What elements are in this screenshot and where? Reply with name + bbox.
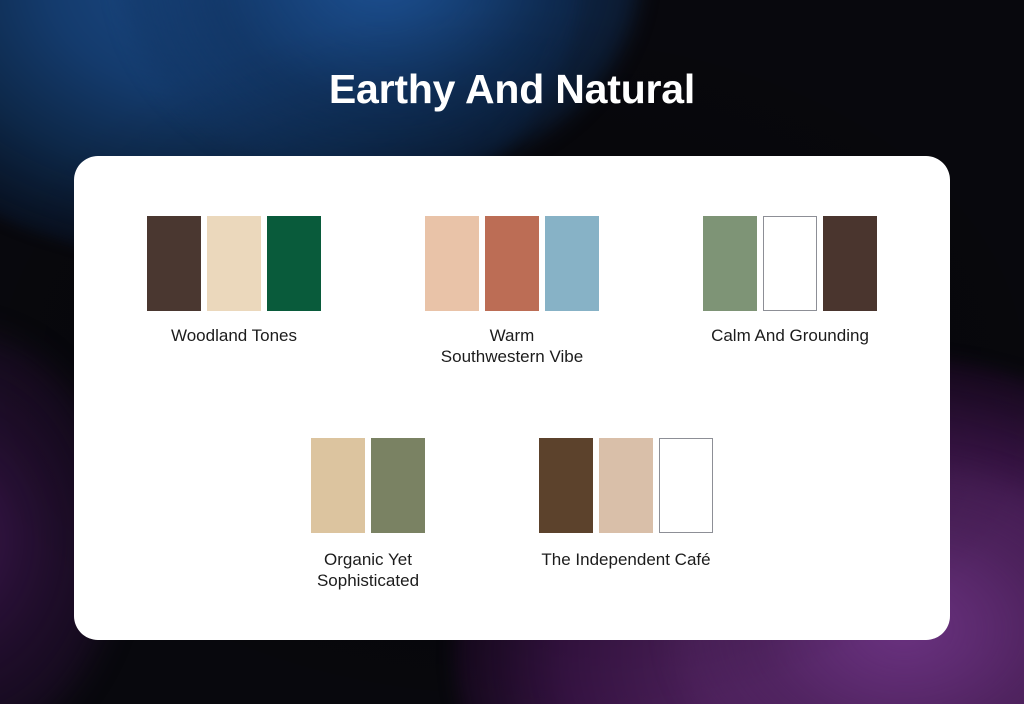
swatch-strip <box>147 216 321 311</box>
palette-group: Woodland Tones <box>147 216 321 367</box>
color-swatch[interactable] <box>703 216 757 311</box>
swatch-strip <box>539 438 713 533</box>
palette-label: The Independent Café <box>541 549 710 570</box>
color-swatch[interactable] <box>485 216 539 311</box>
palette-row-bottom: Organic Yet SophisticatedThe Independent… <box>74 438 950 591</box>
color-swatch[interactable] <box>267 216 321 311</box>
palette-label: Organic Yet Sophisticated <box>317 549 419 591</box>
color-swatch[interactable] <box>207 216 261 311</box>
swatch-strip <box>311 438 425 533</box>
color-swatch[interactable] <box>425 216 479 311</box>
color-swatch[interactable] <box>539 438 593 533</box>
swatch-strip <box>703 216 877 311</box>
palette-group: Calm And Grounding <box>703 216 877 367</box>
palette-group: Organic Yet Sophisticated <box>311 438 425 591</box>
color-swatch[interactable] <box>371 438 425 533</box>
color-swatch[interactable] <box>545 216 599 311</box>
page-title: Earthy And Natural <box>0 66 1024 113</box>
color-swatch[interactable] <box>823 216 877 311</box>
palette-card: Woodland TonesWarm Southwestern VibeCalm… <box>74 156 950 640</box>
palette-label: Calm And Grounding <box>711 325 869 346</box>
palette-group: The Independent Café <box>539 438 713 591</box>
color-swatch[interactable] <box>763 216 817 311</box>
palette-label: Warm Southwestern Vibe <box>441 325 583 367</box>
palette-row-top: Woodland TonesWarm Southwestern VibeCalm… <box>74 216 950 367</box>
color-swatch[interactable] <box>147 216 201 311</box>
color-swatch[interactable] <box>311 438 365 533</box>
color-swatch[interactable] <box>599 438 653 533</box>
palette-group: Warm Southwestern Vibe <box>425 216 599 367</box>
color-swatch[interactable] <box>659 438 713 533</box>
swatch-strip <box>425 216 599 311</box>
palette-label: Woodland Tones <box>171 325 297 346</box>
